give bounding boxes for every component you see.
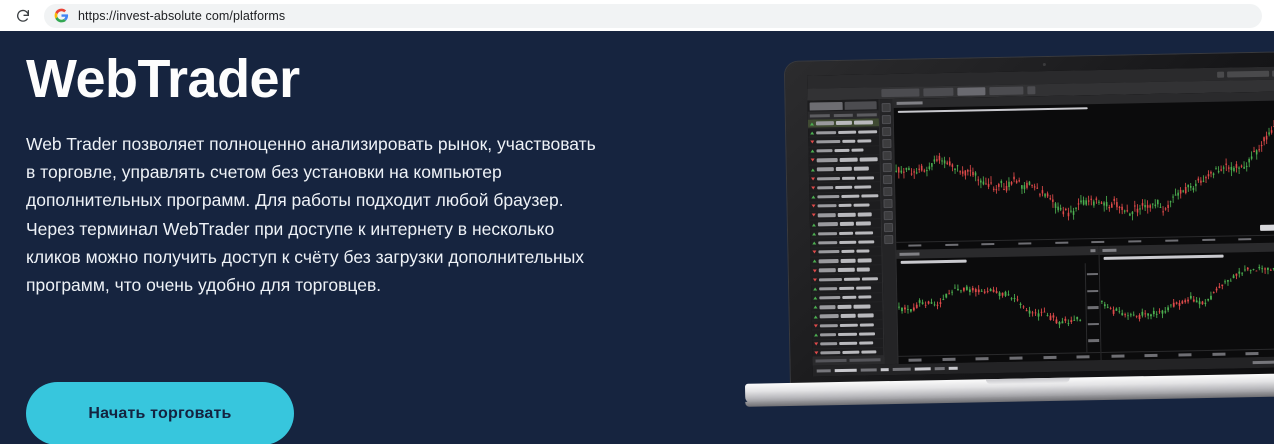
trend-arrow-icon xyxy=(814,352,818,355)
footer-seg-1 xyxy=(816,359,847,363)
cell-bid xyxy=(835,185,852,189)
y-tick xyxy=(1087,323,1098,326)
cell-sym xyxy=(819,287,837,291)
main-chart-panel xyxy=(894,91,1274,250)
chart-tool-icon[interactable] xyxy=(883,151,892,160)
main-candlestick-svg xyxy=(894,108,1274,242)
browser-toolbar: https://invest-absolute com/platforms xyxy=(0,0,1274,31)
google-favicon xyxy=(54,8,69,23)
cell-sym xyxy=(817,176,840,180)
chart-tool-icon[interactable] xyxy=(882,127,891,136)
cell-ask xyxy=(858,130,876,134)
cell-ask xyxy=(856,286,871,290)
x-tick xyxy=(1018,242,1031,245)
trend-arrow-icon xyxy=(812,214,816,217)
cell-sym xyxy=(817,158,838,162)
y-tick xyxy=(1088,340,1099,343)
sub-chart-left-plot[interactable] xyxy=(897,263,1100,356)
connection-status xyxy=(1253,361,1274,365)
cell-bid xyxy=(842,139,856,143)
tab-chart-4[interactable] xyxy=(989,86,1023,95)
trend-arrow-icon xyxy=(813,297,817,300)
x-tick xyxy=(1202,239,1215,242)
cell-bid xyxy=(844,277,860,281)
chart-tool-icon[interactable] xyxy=(882,115,891,124)
cell-sym xyxy=(818,250,839,254)
cell-bid xyxy=(839,286,854,290)
trend-arrow-icon xyxy=(813,287,817,290)
status-value-1 xyxy=(835,369,857,372)
cell-sym xyxy=(816,121,834,125)
status-value-2 xyxy=(881,368,889,371)
cell-ask xyxy=(852,148,864,152)
trend-arrow-icon xyxy=(813,306,817,309)
trend-arrow-icon xyxy=(812,205,816,208)
hero-copy: WebTrader Web Trader позволяет полноценн… xyxy=(26,51,626,300)
titlebar-icon xyxy=(1217,71,1224,77)
x-tick xyxy=(1092,241,1105,244)
chart-tool-icon[interactable] xyxy=(883,163,892,172)
cell-bid xyxy=(842,176,855,180)
lower-charts-row xyxy=(896,242,1274,364)
trend-arrow-icon xyxy=(814,343,818,346)
cell-ask xyxy=(860,157,878,161)
chart-tool-icon[interactable] xyxy=(883,175,892,184)
cell-sym xyxy=(818,204,837,208)
sub-chart-right-plot[interactable] xyxy=(1099,259,1274,352)
x-tick xyxy=(1111,355,1124,358)
sub-chart-left-panel xyxy=(896,246,1100,364)
cell-sym xyxy=(818,222,839,226)
sub-left-candlestick-svg xyxy=(897,263,1100,356)
x-tick xyxy=(945,244,958,247)
cell-ask xyxy=(861,350,876,354)
trend-arrow-icon xyxy=(811,177,815,180)
x-tick xyxy=(1128,240,1141,243)
cell-sym xyxy=(820,342,837,346)
cell-bid xyxy=(839,241,856,245)
cell-ask xyxy=(858,314,874,318)
x-tick xyxy=(909,359,922,362)
x-tick xyxy=(942,358,955,361)
cell-ask xyxy=(861,194,878,198)
cell-sym xyxy=(820,351,840,355)
cell-sym xyxy=(819,296,840,300)
x-tick xyxy=(1239,238,1252,241)
cell-sym xyxy=(819,305,835,309)
start-trading-button[interactable]: Начать торговать xyxy=(26,382,294,444)
cell-ask xyxy=(859,341,873,345)
cell-bid xyxy=(840,158,858,162)
trend-arrow-icon xyxy=(814,315,818,318)
tab-add[interactable] xyxy=(1027,86,1035,94)
column-ask xyxy=(857,113,877,116)
charts-area xyxy=(894,91,1274,364)
x-tick xyxy=(1212,353,1225,356)
trend-arrow-icon xyxy=(813,278,817,281)
x-tick xyxy=(1055,242,1068,245)
x-tick xyxy=(976,357,989,360)
cell-bid xyxy=(842,351,859,355)
cell-bid xyxy=(839,231,853,235)
cell-ask xyxy=(853,305,870,309)
market-watch-panel xyxy=(808,99,885,365)
cell-ask xyxy=(857,249,870,253)
trading-terminal-screen xyxy=(807,66,1274,376)
trend-arrow-icon xyxy=(812,251,816,254)
cell-bid xyxy=(840,222,853,226)
chart-tool-icon[interactable] xyxy=(884,223,893,232)
cell-bid xyxy=(840,342,858,346)
cell-sym xyxy=(820,333,837,337)
terminal-body xyxy=(808,91,1274,365)
cell-sym xyxy=(819,278,842,282)
status-value-3 xyxy=(915,367,931,370)
tab-chart-3[interactable] xyxy=(957,87,985,96)
market-watch-rows xyxy=(808,118,884,356)
cell-sym xyxy=(819,259,839,263)
tab-chart-2[interactable] xyxy=(923,88,953,97)
webcam-dot xyxy=(1043,63,1046,66)
cell-ask xyxy=(858,139,871,143)
sub-chart-left-close-icon[interactable] xyxy=(1090,249,1095,252)
chart-tool-icon[interactable] xyxy=(883,187,892,196)
sub-right-candlestick-svg xyxy=(1099,259,1274,352)
column-symbol xyxy=(810,114,830,117)
y-tick xyxy=(1087,306,1098,309)
y-tick xyxy=(1086,273,1097,276)
tab-favorites[interactable] xyxy=(844,101,877,110)
hero-section: WebTrader Web Trader позволяет полноценн… xyxy=(0,31,1274,444)
trend-arrow-icon xyxy=(811,186,815,189)
trend-arrow-icon xyxy=(810,140,814,143)
main-chart-title xyxy=(897,101,923,104)
cell-bid xyxy=(836,121,852,125)
trend-arrow-icon xyxy=(810,122,814,125)
cell-bid xyxy=(841,314,856,318)
cell-ask xyxy=(860,323,874,327)
status-spacer xyxy=(962,363,1249,369)
cell-bid xyxy=(842,195,860,199)
cell-ask xyxy=(857,268,870,272)
cell-ask xyxy=(858,213,872,217)
cell-ask xyxy=(854,185,871,189)
cell-ask xyxy=(857,176,875,180)
status-label-4 xyxy=(935,367,945,370)
tab-symbols[interactable] xyxy=(810,102,843,111)
x-tick xyxy=(982,243,995,246)
cell-ask xyxy=(855,231,873,235)
cell-bid xyxy=(837,268,854,272)
trend-arrow-icon xyxy=(814,333,818,336)
sub-right-ohlc xyxy=(1103,255,1223,260)
cell-sym xyxy=(817,186,833,190)
cell-bid xyxy=(835,167,851,171)
cell-bid xyxy=(838,130,856,134)
x-tick xyxy=(1010,357,1023,360)
cell-sym xyxy=(816,149,833,153)
x-tick xyxy=(1246,352,1259,355)
tab-chart-1[interactable] xyxy=(881,88,919,97)
sub-chart-left-title xyxy=(899,252,919,255)
trend-arrow-icon xyxy=(811,168,815,171)
url-text: https://invest-absolute com/platforms xyxy=(78,9,285,23)
chart-tool-icon[interactable] xyxy=(882,103,891,112)
cell-ask xyxy=(858,240,874,244)
cell-bid xyxy=(835,149,850,153)
address-bar[interactable]: https://invest-absolute com/platforms xyxy=(44,4,1262,28)
footer-seg-2 xyxy=(849,358,880,362)
x-tick xyxy=(908,245,921,248)
page-title: WebTrader xyxy=(26,51,626,108)
cell-sym xyxy=(816,140,840,144)
chart-tool-icon[interactable] xyxy=(884,235,893,244)
current-price-tag xyxy=(1260,224,1274,230)
sub-chart-right-panel xyxy=(1098,242,1274,360)
cell-sym xyxy=(820,314,840,318)
trend-arrow-icon xyxy=(812,232,816,235)
laptop-lid xyxy=(785,52,1274,387)
cell-sym xyxy=(818,232,837,236)
y-tick xyxy=(1087,290,1098,293)
status-label-1 xyxy=(817,369,831,372)
column-bid xyxy=(833,113,853,116)
hero-description: Web Trader позволяет полноценно анализир… xyxy=(26,130,596,300)
cell-bid xyxy=(843,296,857,300)
sub-chart-right-title xyxy=(1102,248,1116,251)
cell-sym xyxy=(820,324,838,328)
cell-ask xyxy=(858,295,871,299)
cell-sym xyxy=(817,167,834,171)
cell-sym xyxy=(818,241,837,245)
cell-sym xyxy=(817,195,839,199)
cell-bid xyxy=(837,305,851,309)
trend-arrow-icon xyxy=(812,223,816,226)
cell-bid xyxy=(838,332,856,336)
status-label-3 xyxy=(893,368,911,371)
cell-bid xyxy=(841,259,856,263)
chart-tool-icon[interactable] xyxy=(882,139,891,148)
cell-ask xyxy=(859,332,876,336)
cell-sym xyxy=(816,131,836,135)
cell-ask xyxy=(862,277,878,281)
trend-arrow-icon xyxy=(813,260,817,263)
x-tick xyxy=(1165,240,1178,243)
cell-ask xyxy=(856,222,871,226)
chart-tool-icon[interactable] xyxy=(883,199,892,208)
trend-arrow-icon xyxy=(811,159,815,162)
status-label-2 xyxy=(861,368,877,371)
trend-arrow-icon xyxy=(811,196,815,199)
main-chart-plot[interactable] xyxy=(894,108,1274,242)
account-label xyxy=(1227,70,1269,77)
chart-tool-icon[interactable] xyxy=(884,211,893,220)
x-tick xyxy=(1043,356,1056,359)
cell-sym xyxy=(819,268,836,272)
trend-arrow-icon xyxy=(813,269,817,272)
cell-bid xyxy=(838,204,851,208)
trend-arrow-icon xyxy=(810,131,814,134)
cell-ask xyxy=(858,259,872,263)
cell-ask xyxy=(854,121,873,125)
cell-bid xyxy=(840,323,858,327)
status-value-4 xyxy=(949,367,958,370)
sub-left-ohlc xyxy=(901,260,967,264)
x-tick xyxy=(1178,354,1191,357)
cell-bid xyxy=(838,213,856,217)
laptop-mockup xyxy=(785,52,1274,402)
x-tick xyxy=(1145,354,1158,357)
cell-sym xyxy=(818,213,836,217)
trend-arrow-icon xyxy=(810,150,814,153)
cell-ask xyxy=(853,203,870,207)
trend-arrow-icon xyxy=(814,324,818,327)
cell-bid xyxy=(841,250,855,254)
trend-arrow-icon xyxy=(812,241,816,244)
cell-ask xyxy=(854,167,870,171)
reload-icon[interactable] xyxy=(10,3,36,29)
x-tick xyxy=(1077,356,1090,359)
